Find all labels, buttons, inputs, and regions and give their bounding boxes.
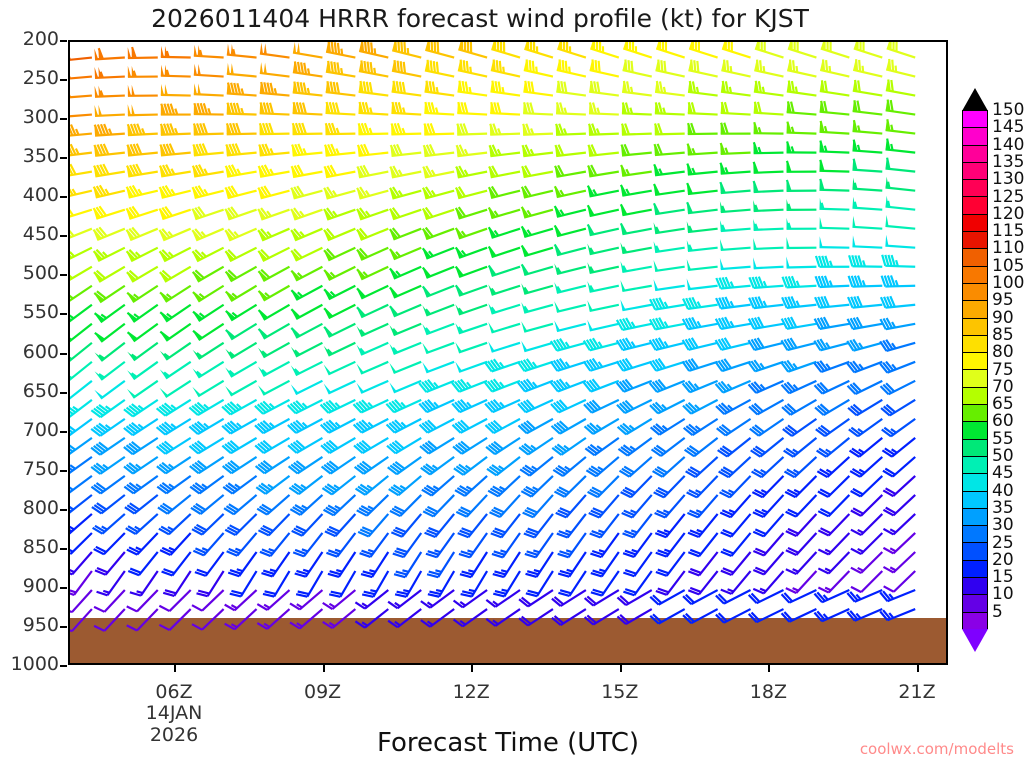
colorbar-swatch [963, 613, 987, 630]
colorbar-swatch [963, 197, 987, 214]
y-axis-tick-label: 850 [23, 538, 59, 557]
y-axis-tick-label: 750 [23, 460, 59, 479]
y-axis-tick-label: 1000 [11, 655, 59, 674]
y-axis-tick-label: 250 [23, 69, 59, 88]
x-axis-tick-mark [620, 665, 622, 672]
x-axis-tick-label: 06Z [155, 681, 192, 703]
y-axis-tick-label: 600 [23, 343, 59, 362]
colorbar-swatch [963, 440, 987, 457]
colorbar-tick-label: 5 [992, 604, 1003, 621]
y-axis-tick-mark [60, 274, 67, 276]
y-axis-tick-mark [60, 431, 67, 433]
colorbar-tick-label: 45 [992, 465, 1014, 482]
colorbar-swatch [963, 111, 987, 128]
colorbar-swatch [963, 163, 987, 180]
colorbar-swatch [963, 578, 987, 595]
y-axis-tick-label: 800 [23, 499, 59, 518]
chart-title: 2026011404 HRRR forecast wind profile (k… [0, 4, 960, 33]
colorbar-tick-label: 80 [992, 344, 1014, 361]
y-axis-tick-mark [60, 157, 67, 159]
y-axis-tick-label: 700 [23, 421, 59, 440]
colorbar-swatch [963, 146, 987, 163]
colorbar-swatch [963, 232, 987, 249]
colorbar-swatch [963, 267, 987, 284]
wind-barbs [70, 42, 915, 631]
x-axis-tick-mark [174, 665, 176, 672]
y-axis-tick-mark [60, 118, 67, 120]
colorbar: 1501451401351301251201151101051009590858… [962, 88, 1024, 648]
x-axis-tick-label: 09Z [304, 681, 341, 703]
y-axis-tick-label: 550 [23, 303, 59, 322]
colorbar-swatch [963, 215, 987, 232]
wind-barb-layer [70, 42, 946, 663]
x-axis-date-label: 14JAN [146, 703, 203, 724]
colorbar-swatch [963, 595, 987, 612]
y-axis-tick-mark [60, 40, 67, 42]
colorbar-swatch [963, 405, 987, 422]
y-axis-tick-label: 400 [23, 186, 59, 205]
colorbar-swatch [963, 128, 987, 145]
plot-area [68, 40, 948, 665]
x-axis-tick-label: 12Z [453, 681, 490, 703]
x-axis-tick-mark [768, 665, 770, 672]
x-axis-tick-label: 18Z [750, 681, 787, 703]
colorbar-swatch [963, 249, 987, 266]
y-axis-tick-label: 500 [23, 264, 59, 283]
y-axis-tick-mark [60, 548, 67, 550]
colorbar-tick-label: 75 [992, 362, 1014, 379]
colorbar-body [962, 110, 988, 629]
colorbar-tick-label: 95 [992, 292, 1014, 309]
colorbar-swatch [963, 353, 987, 370]
y-axis-tick-label: 450 [23, 225, 59, 244]
x-axis-tick-mark [471, 665, 473, 672]
colorbar-tick-label: 10 [992, 586, 1014, 603]
colorbar-swatch [963, 474, 987, 491]
y-axis-tick-mark [60, 353, 67, 355]
colorbar-tick-label: 30 [992, 517, 1014, 534]
x-axis-title: Forecast Time (UTC) [68, 728, 948, 758]
colorbar-tick-label: 60 [992, 413, 1014, 430]
colorbar-tick-label: 130 [992, 171, 1024, 188]
x-axis-tick-mark [917, 665, 919, 672]
colorbar-tick-label: 25 [992, 535, 1014, 552]
colorbar-swatch [963, 388, 987, 405]
colorbar-swatch [963, 422, 987, 439]
y-axis-tick-mark [60, 626, 67, 628]
x-axis-tick-mark [323, 665, 325, 672]
y-axis-tick-label: 950 [23, 616, 59, 635]
y-axis-tick-mark [60, 392, 67, 394]
y-axis-tick-label: 350 [23, 147, 59, 166]
colorbar-swatch [963, 526, 987, 543]
y-axis-tick-mark [60, 313, 67, 315]
colorbar-swatch [963, 180, 987, 197]
colorbar-swatch [963, 336, 987, 353]
colorbar-tick-label: 125 [992, 189, 1024, 206]
colorbar-swatch [963, 284, 987, 301]
colorbar-tick-label: 145 [992, 119, 1024, 136]
triangle-up-icon [962, 88, 988, 111]
colorbar-swatch [963, 301, 987, 318]
y-axis-tick-label: 900 [23, 577, 59, 596]
colorbar-swatch [963, 370, 987, 387]
x-axis-tick-label: 21Z [898, 681, 935, 703]
y-axis-tick-label: 650 [23, 382, 59, 401]
x-axis-tick-label: 15Z [601, 681, 638, 703]
colorbar-tick-label: 110 [992, 240, 1024, 257]
y-axis-tick-mark [60, 196, 67, 198]
colorbar-swatch [963, 543, 987, 560]
wind-profile-chart: 2026011404 HRRR forecast wind profile (k… [0, 0, 1024, 768]
y-axis-tick-mark [60, 665, 67, 667]
colorbar-swatch [963, 457, 987, 474]
y-axis-tick-mark [60, 587, 67, 589]
triangle-down-icon [962, 629, 988, 652]
colorbar-swatch [963, 561, 987, 578]
y-axis-tick-label: 200 [23, 30, 59, 49]
y-axis-tick-mark [60, 470, 67, 472]
colorbar-swatch [963, 492, 987, 509]
watermark: coolwx.com/modelts [860, 740, 1014, 758]
y-axis-tick-mark [60, 79, 67, 81]
y-axis-tick-label: 300 [23, 108, 59, 127]
colorbar-swatch [963, 509, 987, 526]
colorbar-swatch [963, 319, 987, 336]
y-axis-tick-mark [60, 509, 67, 511]
y-axis-tick-mark [60, 235, 67, 237]
